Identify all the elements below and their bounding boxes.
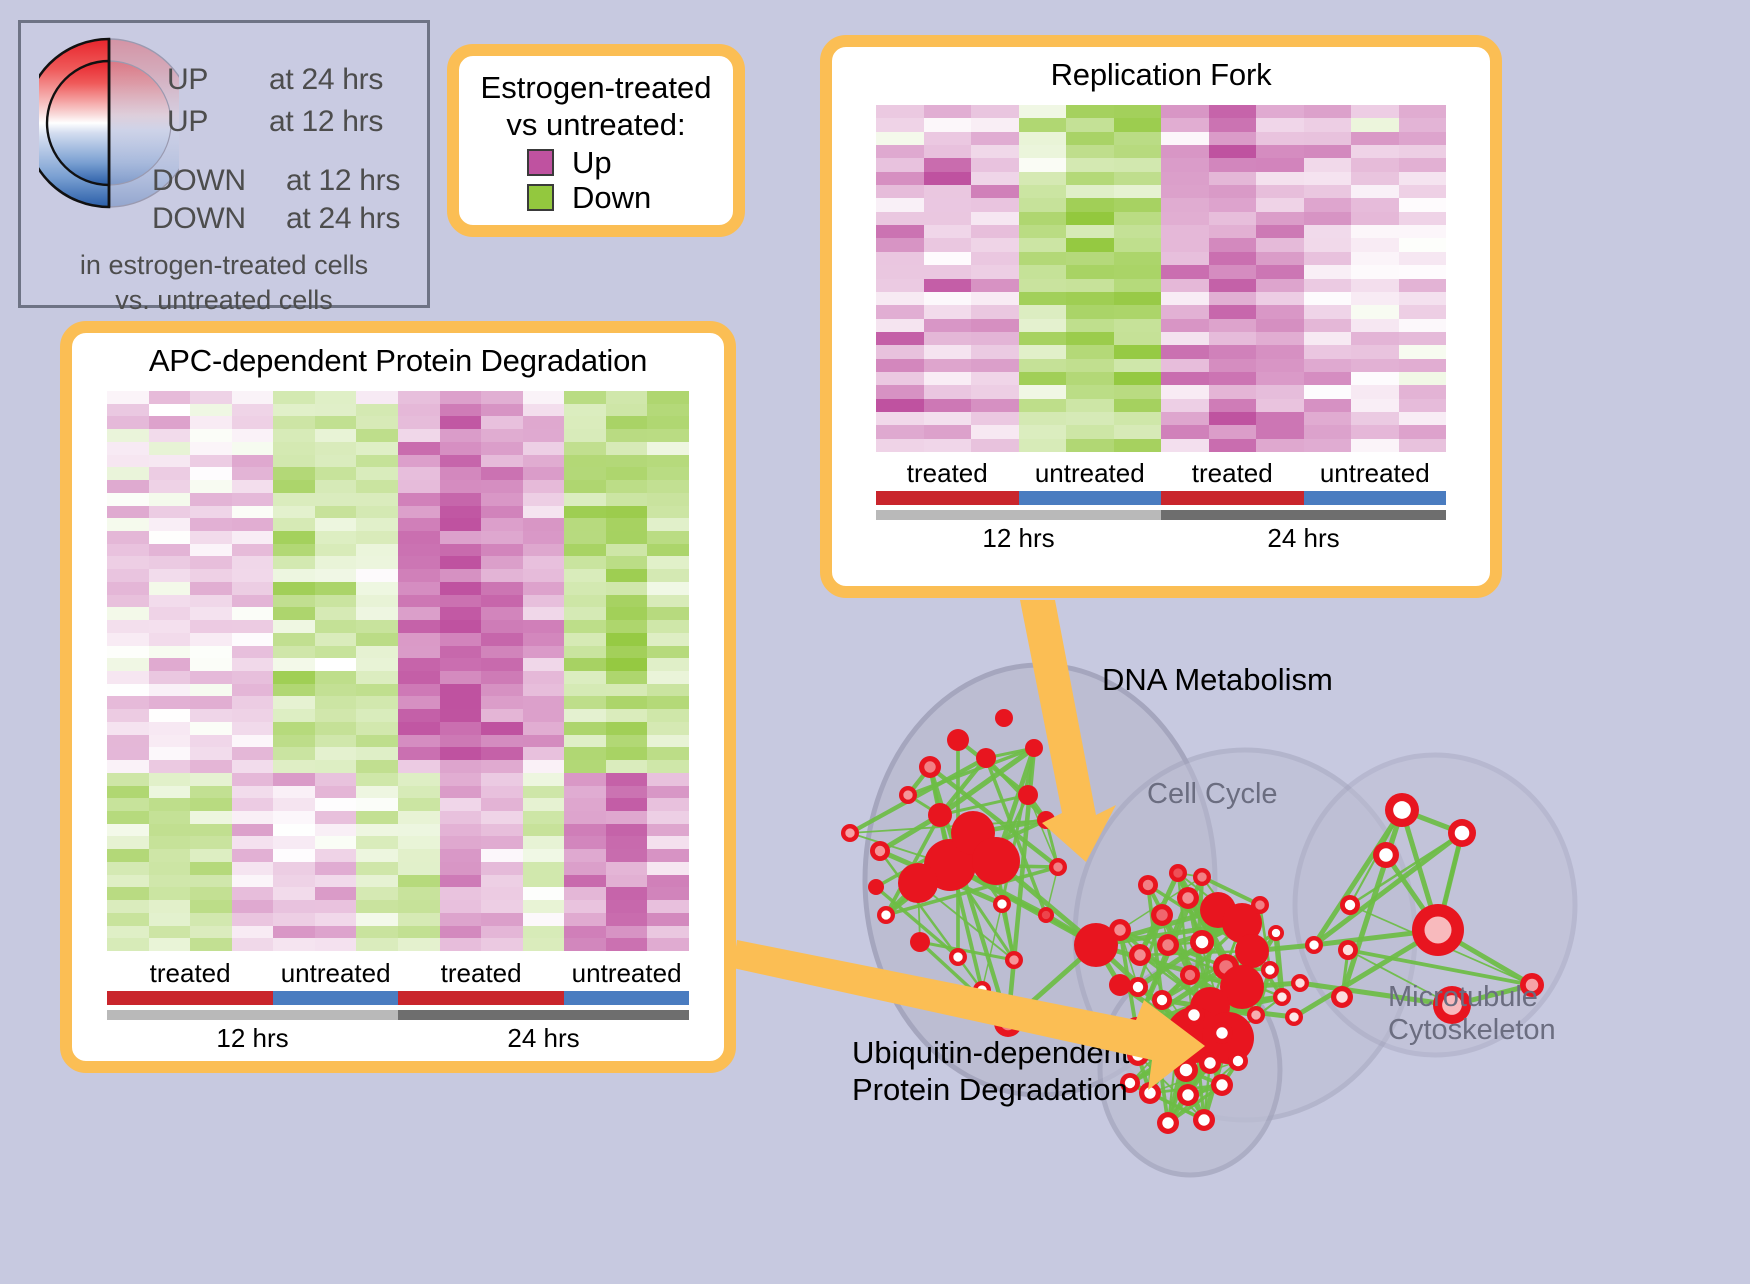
heatmap-cell <box>1114 345 1162 358</box>
heatmap-cell <box>398 646 440 659</box>
heatmap-cell <box>647 404 689 417</box>
heatmap-cell <box>523 684 565 697</box>
heatmap-cell <box>523 887 565 900</box>
heatmap-cell <box>1066 252 1114 265</box>
network-node-core <box>943 993 952 1002</box>
apc-condition-bars <box>107 991 689 1005</box>
heatmap-cell <box>273 595 315 608</box>
heatmap-cell <box>315 493 357 506</box>
network-node-core <box>1162 1117 1173 1128</box>
heatmap-cell <box>1114 292 1162 305</box>
heatmap-cell <box>440 620 482 633</box>
heatmap-cell <box>564 658 606 671</box>
heatmap-cell <box>564 646 606 659</box>
heatmap-cell <box>149 582 191 595</box>
heatmap-cell <box>398 798 440 811</box>
heatmap-cell <box>107 404 149 417</box>
heatmap-cell <box>523 773 565 786</box>
heatmap-cell <box>440 556 482 569</box>
heatmap-cell <box>356 747 398 760</box>
heatmap-cell <box>564 620 606 633</box>
heatmap-cell <box>440 442 482 455</box>
heatmap-cell <box>1066 385 1114 398</box>
heatmap-cell <box>606 556 648 569</box>
heatmap-cell <box>149 569 191 582</box>
heatmap-cell <box>564 836 606 849</box>
heatmap-cell <box>1161 198 1209 211</box>
heatmap-cell <box>564 455 606 468</box>
heatmap-cell <box>523 798 565 811</box>
heatmap-cell <box>647 455 689 468</box>
heatmap-cell <box>398 684 440 697</box>
condition-label: untreated <box>273 958 398 989</box>
heatmap-cell <box>1256 305 1304 318</box>
heatmap-cell <box>1399 385 1447 398</box>
heatmap-cell <box>398 391 440 404</box>
heatmap-cell <box>564 569 606 582</box>
heatmap-cell <box>876 319 924 332</box>
network-node-core <box>1114 924 1125 935</box>
heatmap-cell <box>564 824 606 837</box>
heatmap-cell <box>1256 292 1304 305</box>
heatmap-cell <box>481 493 523 506</box>
network-node-core <box>1182 892 1193 903</box>
heatmap-cell <box>440 735 482 748</box>
heatmap-cell <box>149 467 191 480</box>
heatmap-cell <box>1256 385 1304 398</box>
heatmap-cell <box>356 696 398 709</box>
condition-label: treated <box>398 958 564 989</box>
network-node-core <box>1053 862 1062 871</box>
heatmap-cell <box>1399 359 1447 372</box>
heatmap-cell <box>190 811 232 824</box>
heatmap-cell <box>273 607 315 620</box>
heatmap-cell <box>232 760 274 773</box>
heatmap-cell <box>315 798 357 811</box>
heatmap-cell <box>190 595 232 608</box>
heatmap-cell <box>149 442 191 455</box>
heatmap-cell <box>190 760 232 773</box>
heatmap-cell <box>606 773 648 786</box>
heatmap-cell <box>481 569 523 582</box>
heatmap-cell <box>398 760 440 773</box>
heatmap-cell <box>107 735 149 748</box>
heatmap-cell <box>564 595 606 608</box>
heatmap-cell <box>315 658 357 671</box>
heatmap-cell <box>273 786 315 799</box>
network-node-core <box>1188 1009 1199 1020</box>
heatmap-cell <box>606 620 648 633</box>
heatmap-cell <box>315 811 357 824</box>
heatmap-cell <box>315 747 357 760</box>
condition-label: untreated <box>1304 458 1447 489</box>
network-node <box>1109 974 1131 996</box>
heatmap-cell <box>523 531 565 544</box>
heatmap-cell <box>1019 225 1067 238</box>
heatmap-cell <box>190 633 232 646</box>
network-node-core <box>1424 916 1451 943</box>
heatmap-cell <box>523 467 565 480</box>
heatmap-cell <box>564 633 606 646</box>
heatmap-cell <box>1399 132 1447 145</box>
heatmap-cell <box>190 926 232 939</box>
heatmap-cell <box>1399 345 1447 358</box>
heatmap-cell <box>1019 412 1067 425</box>
heatmap-cell <box>1304 385 1352 398</box>
heatmap-cell <box>1304 425 1352 438</box>
heatmap-cell <box>1209 265 1257 278</box>
heatmap-cell <box>273 531 315 544</box>
heatmap-cell <box>1019 265 1067 278</box>
heatmap-cell <box>273 747 315 760</box>
heatmap-cell <box>1209 292 1257 305</box>
heatmap-cell <box>315 620 357 633</box>
heatmap-cell <box>1114 385 1162 398</box>
heatmap-cell <box>924 279 972 292</box>
network-node-core <box>1289 1012 1298 1021</box>
heatmap-cell <box>481 849 523 862</box>
heatmap-cell <box>356 518 398 531</box>
heatmap-cell <box>315 455 357 468</box>
heatmap-cell <box>647 696 689 709</box>
heatmap-cell <box>232 416 274 429</box>
timepoint-color-bar <box>398 1010 689 1020</box>
heatmap-cell <box>606 429 648 442</box>
heatmap-cell <box>356 862 398 875</box>
heatmap-cell <box>647 913 689 926</box>
heatmap-cell <box>149 849 191 862</box>
timepoint-label: 12 hrs <box>876 523 1161 554</box>
heatmap-cell <box>523 556 565 569</box>
heatmap-cell <box>440 709 482 722</box>
heatmap-cell <box>924 238 972 251</box>
heatmap-cell <box>481 416 523 429</box>
heatmap-cell <box>1114 158 1162 171</box>
network-node-core <box>1272 929 1280 937</box>
heatmap-cell <box>356 493 398 506</box>
heatmap-cell <box>398 862 440 875</box>
heatmap-cell <box>876 105 924 118</box>
network-node-core <box>1009 955 1018 964</box>
heatmap-cell <box>315 760 357 773</box>
heatmap-cell <box>440 607 482 620</box>
heatmap-cell <box>647 735 689 748</box>
heatmap-cell <box>1019 238 1067 251</box>
heatmap-cell <box>523 455 565 468</box>
heatmap-cell <box>1399 198 1447 211</box>
heatmap-cell <box>606 798 648 811</box>
heatmap-cell <box>1304 105 1352 118</box>
heatmap-cell <box>273 798 315 811</box>
heatmap-cell <box>606 913 648 926</box>
heatmap-cell <box>924 185 972 198</box>
heatmap-cell <box>356 531 398 544</box>
network-node <box>910 932 930 952</box>
heatmap-cell <box>398 569 440 582</box>
heatmap-cell <box>924 399 972 412</box>
heatmap-cell <box>232 887 274 900</box>
heatmap-cell <box>523 658 565 671</box>
heatmap-cell <box>1399 158 1447 171</box>
heatmap-cell <box>398 926 440 939</box>
heatmap-cell <box>232 607 274 620</box>
heatmap-cell <box>1161 185 1209 198</box>
heatmap-cell <box>440 811 482 824</box>
heatmap-cell <box>107 620 149 633</box>
heatmap-cell <box>107 747 149 760</box>
heatmap-cell <box>1019 132 1067 145</box>
heatmap-cell <box>398 595 440 608</box>
heatmap-cell <box>440 595 482 608</box>
heatmap-cell <box>1019 305 1067 318</box>
heatmap-cell <box>315 595 357 608</box>
heatmap-cell <box>606 684 648 697</box>
heatmap-cell <box>107 658 149 671</box>
heatmap-cell <box>440 416 482 429</box>
heatmap-cell <box>647 544 689 557</box>
heatmap-cell <box>876 225 924 238</box>
heatmap-cell <box>149 760 191 773</box>
heatmap-cell <box>1114 399 1162 412</box>
ring-footer-line-1: in estrogen-treated cells <box>21 250 427 281</box>
heatmap-cell <box>315 709 357 722</box>
heatmap-cell <box>481 684 523 697</box>
heatmap-cell <box>1399 118 1447 131</box>
heatmap-cell <box>273 696 315 709</box>
heatmap-cell <box>440 722 482 735</box>
down-color-swatch <box>527 184 554 211</box>
function-network-diagram: DNA Metabolism Cell Cycle Microtubule Cy… <box>790 615 1750 1279</box>
heatmap-cell <box>440 798 482 811</box>
heatmap-cell <box>149 735 191 748</box>
heatmap-cell <box>1066 305 1114 318</box>
heatmap-cell <box>232 455 274 468</box>
heatmap-cell <box>481 735 523 748</box>
heatmap-cell <box>190 696 232 709</box>
heatmap-cell <box>232 531 274 544</box>
heatmap-cell <box>232 506 274 519</box>
heatmap-cell <box>481 773 523 786</box>
heatmap-cell <box>1066 439 1114 452</box>
heatmap-cell <box>107 646 149 659</box>
heatmap-cell <box>1161 425 1209 438</box>
heatmap-cell <box>273 620 315 633</box>
heatmap-cell <box>190 416 232 429</box>
heatmap-cell <box>1304 319 1352 332</box>
heatmap-cell <box>1209 279 1257 292</box>
heatmap-cell <box>1256 372 1304 385</box>
heatmap-cell <box>356 506 398 519</box>
heatmap-cell <box>149 709 191 722</box>
heatmap-cell <box>523 786 565 799</box>
network-node-core <box>1185 970 1195 980</box>
heatmap-cell <box>398 836 440 849</box>
heatmap-cell <box>1209 319 1257 332</box>
heatmap-cell <box>440 849 482 862</box>
heatmap-cell <box>564 544 606 557</box>
heatmap-cell <box>1351 238 1399 251</box>
heatmap-cell <box>1399 225 1447 238</box>
heatmap-cell <box>440 455 482 468</box>
heatmap-cell <box>1209 439 1257 452</box>
heatmap-cell <box>971 332 1019 345</box>
heatmap-cell <box>606 887 648 900</box>
updown-title-line-2: vs untreated: <box>459 107 733 144</box>
heatmap-cell <box>876 118 924 131</box>
heatmap-cell <box>398 696 440 709</box>
heatmap-cell <box>647 658 689 671</box>
heatmap-cell <box>1209 238 1257 251</box>
heatmap-cell <box>481 900 523 913</box>
heatmap-cell <box>1304 439 1352 452</box>
heatmap-cell <box>1066 345 1114 358</box>
heatmap-cell <box>356 760 398 773</box>
heatmap-cell <box>398 556 440 569</box>
heatmap-cell <box>398 582 440 595</box>
heatmap-cell <box>398 633 440 646</box>
heatmap-cell <box>971 439 1019 452</box>
heatmap-cell <box>876 279 924 292</box>
up-color-swatch <box>527 149 554 176</box>
heatmap-cell <box>232 849 274 862</box>
heatmap-cell <box>1304 305 1352 318</box>
heatmap-cell <box>1019 158 1067 171</box>
heatmap-cell <box>523 633 565 646</box>
heatmap-cell <box>273 416 315 429</box>
heatmap-cell <box>564 442 606 455</box>
heatmap-cell <box>440 747 482 760</box>
heatmap-cell <box>398 709 440 722</box>
heatmap-cell <box>190 582 232 595</box>
heatmap-cell <box>606 938 648 951</box>
heatmap-cell <box>315 518 357 531</box>
heatmap-cell <box>107 442 149 455</box>
microtubule-line-1: Microtubule <box>1388 981 1538 1013</box>
heatmap-cell <box>876 399 924 412</box>
network-node <box>1018 785 1038 805</box>
heatmap-cell <box>1351 345 1399 358</box>
heatmap-cell <box>440 938 482 951</box>
heatmap-cell <box>481 722 523 735</box>
apc-condition-labels: treateduntreatedtreateduntreated <box>107 958 689 989</box>
heatmap-cell <box>1019 279 1067 292</box>
heatmap-cell <box>481 836 523 849</box>
heatmap-cell <box>1351 172 1399 185</box>
heatmap-cell <box>523 595 565 608</box>
heatmap-cell <box>107 480 149 493</box>
heatmap-cell <box>647 722 689 735</box>
heatmap-cell <box>190 747 232 760</box>
heatmap-cell <box>971 319 1019 332</box>
heatmap-cell <box>606 862 648 875</box>
heatmap-cell <box>440 391 482 404</box>
heatmap-cell <box>190 913 232 926</box>
heatmap-cell <box>440 569 482 582</box>
heatmap-cell <box>315 544 357 557</box>
heatmap-cell <box>971 345 1019 358</box>
heatmap-cell <box>606 518 648 531</box>
heatmap-cell <box>1066 118 1114 131</box>
heatmap-cell <box>1019 345 1067 358</box>
heatmap-cell <box>606 760 648 773</box>
heatmap-cell <box>107 518 149 531</box>
heatmap-cell <box>1351 145 1399 158</box>
heatmap-cell <box>1304 172 1352 185</box>
heatmap-cell <box>190 455 232 468</box>
heatmap-cell <box>440 480 482 493</box>
heatmap-cell <box>523 582 565 595</box>
heatmap-cell <box>1066 145 1114 158</box>
network-node <box>1074 923 1118 967</box>
heatmap-cell <box>273 480 315 493</box>
heatmap-cell <box>647 493 689 506</box>
heatmap-cell <box>1256 439 1304 452</box>
heatmap-cell <box>232 913 274 926</box>
heatmap-cell <box>523 416 565 429</box>
heatmap-cell <box>398 429 440 442</box>
heatmap-cell <box>924 385 972 398</box>
untreated-color-bar <box>273 991 398 1005</box>
heatmap-cell <box>606 671 648 684</box>
heatmap-cell <box>273 442 315 455</box>
heatmap-cell <box>273 875 315 888</box>
heatmap-cell <box>315 582 357 595</box>
heatmap-cell <box>356 735 398 748</box>
heatmap-cell <box>149 506 191 519</box>
heatmap-cell <box>149 607 191 620</box>
heatmap-cell <box>481 646 523 659</box>
heatmap-cell <box>149 646 191 659</box>
heatmap-cell <box>315 913 357 926</box>
heatmap-cell <box>149 773 191 786</box>
heatmap-cell <box>315 467 357 480</box>
heatmap-cell <box>647 824 689 837</box>
heatmap-cell <box>356 786 398 799</box>
heatmap-cell <box>564 696 606 709</box>
apc-timepoint-bars <box>107 1010 689 1020</box>
heatmap-cell <box>107 582 149 595</box>
heatmap-cell <box>232 900 274 913</box>
heatmap-cell <box>440 913 482 926</box>
heatmap-cell <box>1256 332 1304 345</box>
ring-row-3-direction: DOWN <box>152 202 246 236</box>
heatmap-cell <box>481 811 523 824</box>
treated-color-bar <box>876 491 1019 505</box>
heatmap-cell <box>1209 385 1257 398</box>
heatmap-cell <box>1019 372 1067 385</box>
heatmap-cell <box>356 824 398 837</box>
cluster-label-dna-metabolism: DNA Metabolism <box>1102 662 1333 698</box>
heatmap-cell <box>232 442 274 455</box>
heatmap-cell <box>440 646 482 659</box>
heatmap-cell <box>1066 425 1114 438</box>
heatmap-cell <box>1351 158 1399 171</box>
heatmap-cell <box>1114 105 1162 118</box>
heatmap-cell <box>876 385 924 398</box>
heatmap-cell <box>398 416 440 429</box>
heatmap-cell <box>1114 172 1162 185</box>
heatmap-cell <box>190 467 232 480</box>
heatmap-cell <box>1256 252 1304 265</box>
heatmap-cell <box>481 709 523 722</box>
heatmap-cell <box>190 620 232 633</box>
timepoint-color-bar <box>107 1010 398 1020</box>
heatmap-cell <box>356 773 398 786</box>
heatmap-cell <box>564 518 606 531</box>
network-node-core <box>1216 1079 1227 1090</box>
heatmap-cell <box>232 709 274 722</box>
heatmap-cell <box>876 412 924 425</box>
